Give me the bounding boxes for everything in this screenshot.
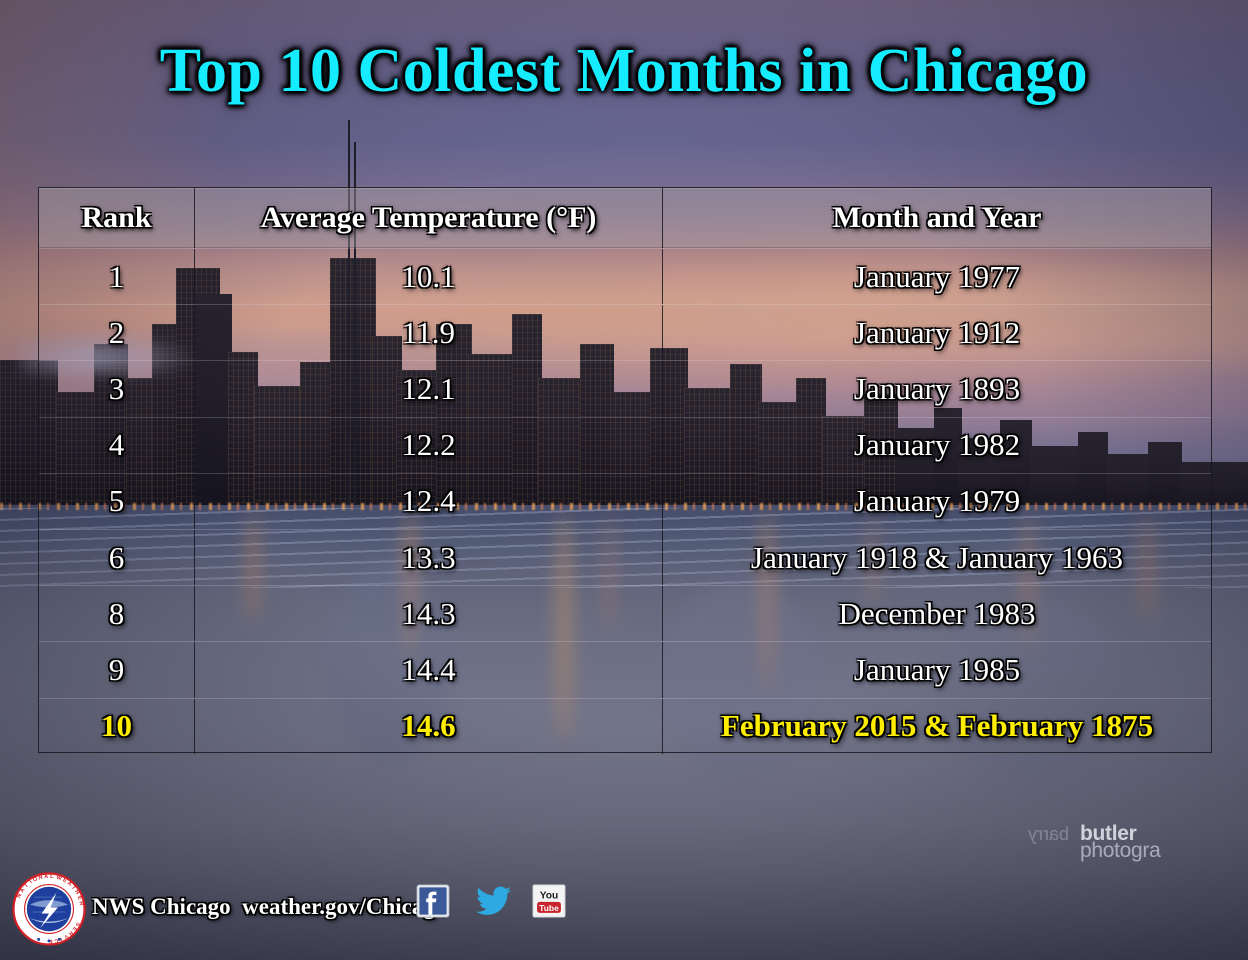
table-row: 3 12.1 January 1893 bbox=[39, 360, 1211, 416]
cell-month-year: January 1979 bbox=[663, 474, 1211, 529]
twitter-icon[interactable] bbox=[476, 884, 512, 918]
cell-rank: 4 bbox=[39, 418, 195, 473]
cell-temperature: 10.1 bbox=[195, 249, 663, 304]
cell-rank: 2 bbox=[39, 305, 195, 360]
header-rank: Rank bbox=[39, 188, 195, 248]
cell-month-year: February 2015 & February 1875 bbox=[663, 699, 1211, 754]
table-row: 2 11.9 January 1912 bbox=[39, 304, 1211, 360]
table-row: 1 10.1 January 1977 bbox=[39, 248, 1211, 304]
table-row-highlighted: 10 14.6 February 2015 & February 1875 bbox=[39, 698, 1211, 754]
cell-temperature: 11.9 bbox=[195, 305, 663, 360]
cell-temperature: 12.4 bbox=[195, 474, 663, 529]
svg-text:A: A bbox=[44, 874, 49, 880]
cell-temperature: 14.4 bbox=[195, 642, 663, 697]
cell-rank: 5 bbox=[39, 474, 195, 529]
cell-rank: 3 bbox=[39, 361, 195, 416]
cell-month-year: January 1912 bbox=[663, 305, 1211, 360]
coldest-months-table: Rank Average Temperature (°F) Month and … bbox=[38, 187, 1212, 753]
cell-temperature: 14.3 bbox=[195, 586, 663, 641]
nws-seal-icon: N A T I O N A L W E A T H E R S E R V I … bbox=[12, 872, 86, 946]
cell-temperature: 12.2 bbox=[195, 418, 663, 473]
cell-month-year: January 1982 bbox=[663, 418, 1211, 473]
cell-month-year: January 1977 bbox=[663, 249, 1211, 304]
table-row: 9 14.4 January 1985 bbox=[39, 641, 1211, 697]
cell-month-year: December 1983 bbox=[663, 586, 1211, 641]
youtube-icon[interactable]: You Tube bbox=[532, 884, 566, 918]
footer-caption: NWS Chicago weather.gov/Chicago bbox=[92, 894, 446, 920]
footer-bar: N A T I O N A L W E A T H E R S E R V I … bbox=[0, 868, 1248, 960]
svg-text:Tube: Tube bbox=[539, 903, 559, 913]
table-row: 6 13.3 January 1918 & January 1963 bbox=[39, 529, 1211, 585]
table-row: 8 14.3 December 1983 bbox=[39, 585, 1211, 641]
cell-rank: 6 bbox=[39, 530, 195, 585]
cell-month-year: January 1893 bbox=[663, 361, 1211, 416]
table-row: 4 12.2 January 1982 bbox=[39, 417, 1211, 473]
cell-temperature: 13.3 bbox=[195, 530, 663, 585]
cell-temperature: 12.1 bbox=[195, 361, 663, 416]
cell-rank: 9 bbox=[39, 642, 195, 697]
cell-month-year: January 1918 & January 1963 bbox=[663, 530, 1211, 585]
table-header-row: Rank Average Temperature (°F) Month and … bbox=[39, 188, 1211, 248]
cell-month-year: January 1985 bbox=[663, 642, 1211, 697]
cell-rank: 8 bbox=[39, 586, 195, 641]
header-month-and-year: Month and Year bbox=[663, 188, 1211, 248]
page-title: Top 10 Coldest Months in Chicago bbox=[0, 36, 1248, 107]
header-average-temperature: Average Temperature (°F) bbox=[195, 188, 663, 248]
cell-temperature: 14.6 bbox=[195, 699, 663, 754]
table-row: 5 12.4 January 1979 bbox=[39, 473, 1211, 529]
cell-rank: 1 bbox=[39, 249, 195, 304]
cell-rank: 10 bbox=[39, 699, 195, 754]
facebook-icon[interactable] bbox=[416, 884, 450, 918]
svg-text:You: You bbox=[540, 890, 558, 901]
